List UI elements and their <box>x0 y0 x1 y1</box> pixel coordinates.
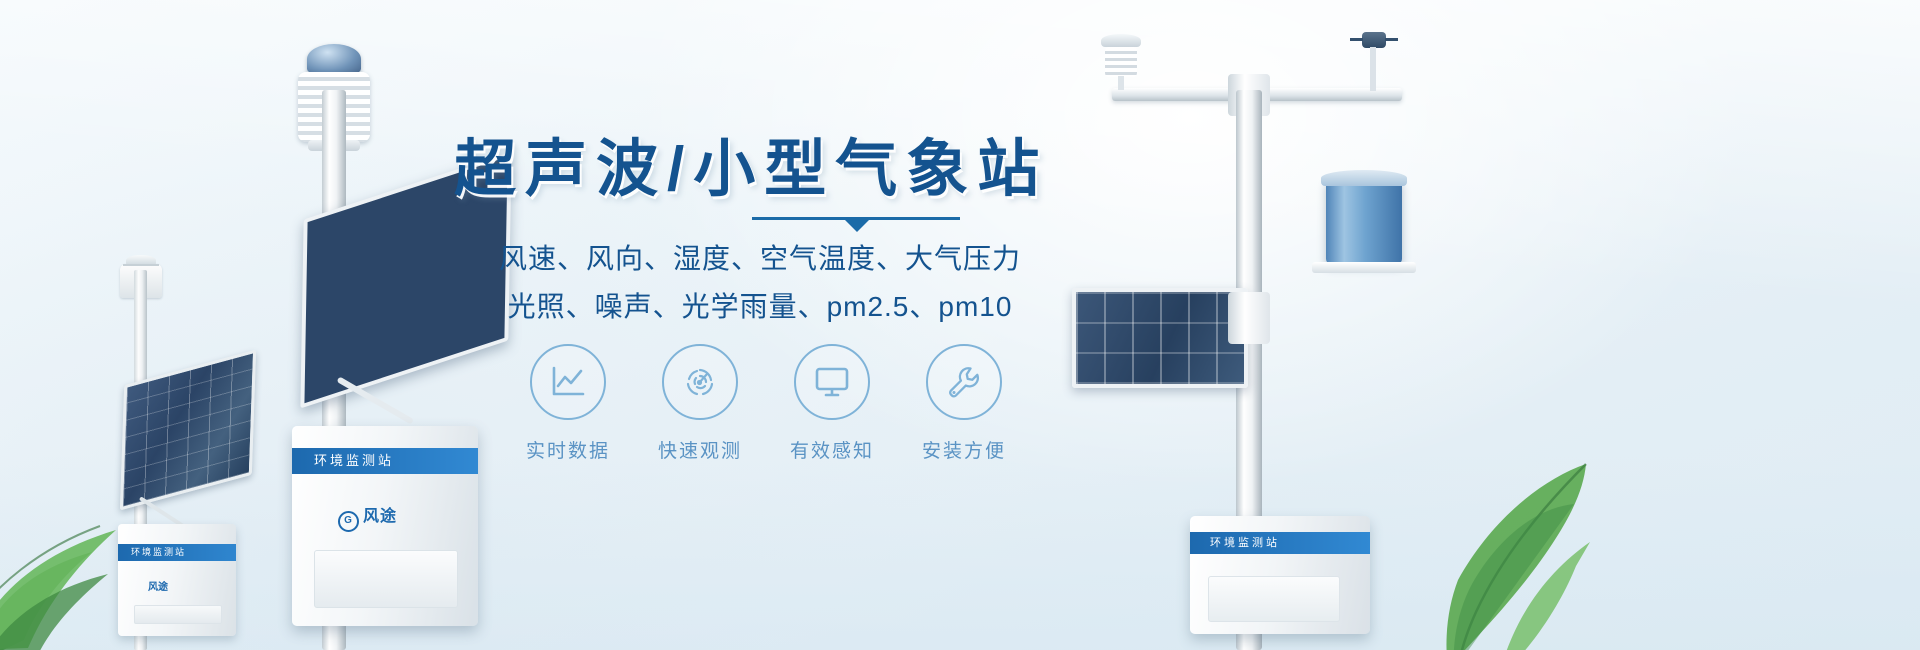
subtitle-line-2: 光照、噪声、光学雨量、pm2.5、pm10 <box>440 285 1080 325</box>
product-banner: 环境监测站 风途 环境监测站 G风途 <box>0 0 1920 650</box>
line-chart-icon <box>530 344 606 420</box>
feature-label: 安装方便 <box>912 436 1016 463</box>
solar-panel <box>1072 288 1248 388</box>
sky-dome-sensor-icon <box>307 44 361 74</box>
weather-station-right: 环境监测站 <box>1060 30 1420 650</box>
wrench-tool-icon <box>926 344 1002 420</box>
cabinet-door <box>314 550 458 608</box>
title-divider <box>752 217 960 220</box>
cabinet-label-text: 环境监测站 <box>1190 532 1370 554</box>
feature-item-realtime-data[interactable]: 实时数据 <box>516 344 620 463</box>
control-cabinet: 环境监测站 <box>1190 516 1370 634</box>
radar-signal-icon <box>662 344 738 420</box>
feature-item-easy-install[interactable]: 安装方便 <box>912 344 1016 463</box>
cabinet-label-bar: 环境监测站 <box>118 544 236 561</box>
control-cabinet: 环境监测站 风途 <box>118 524 236 636</box>
rain-gauge-icon <box>1326 178 1402 264</box>
feature-label: 实时数据 <box>516 436 620 463</box>
banner-content: 超声波/小型气象站 风速、风向、湿度、空气温度、大气压力 光照、噪声、光学雨量、… <box>440 0 1080 650</box>
feature-list: 实时数据 <box>516 344 1016 463</box>
brand-name: 风途 <box>363 508 397 525</box>
subtitle-line-1: 风速、风向、湿度、空气温度、大气压力 <box>440 237 1080 277</box>
feature-item-effective-sensing[interactable]: 有效感知 <box>780 344 884 463</box>
wind-vane-icon <box>1356 30 1390 92</box>
cabinet-label-bar: 环境监测站 <box>1190 532 1370 554</box>
cabinet-label-text: 环境监测站 <box>118 544 236 561</box>
feature-label: 有效感知 <box>780 436 884 463</box>
instrument-shelf <box>1312 262 1416 273</box>
monitor-display-icon <box>794 344 870 420</box>
ultrasonic-sensor-icon <box>1098 34 1144 88</box>
mast-collar <box>1228 292 1270 344</box>
feature-item-fast-observation[interactable]: 快速观测 <box>648 344 752 463</box>
brand-logo: 风途 <box>148 578 168 593</box>
cabinet-vent <box>134 605 222 624</box>
brand-mark-icon: G <box>338 511 359 532</box>
feature-label: 快速观测 <box>648 436 752 463</box>
brand-logo: G风途 <box>338 502 397 532</box>
cabinet-door <box>1208 576 1340 622</box>
page-title: 超声波/小型气象站 <box>454 118 1094 208</box>
